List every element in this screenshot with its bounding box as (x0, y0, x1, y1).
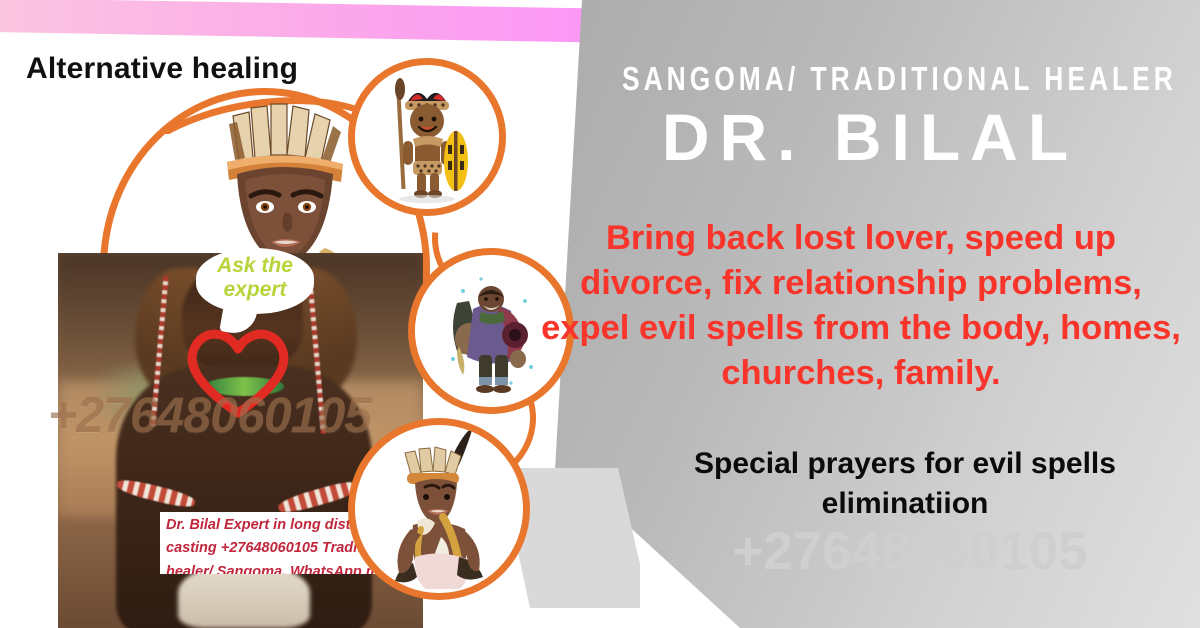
special-prayers-subheading: Special prayers for evil spells eliminat… (620, 444, 1190, 524)
healer-name-title: DR. BILAL (560, 103, 1180, 172)
ghost-phone-number: +27648060105 (620, 525, 1200, 578)
alternative-healing-headline: Alternative healing (26, 52, 298, 86)
services-description: Bring back lost lover, speed up divorce,… (536, 216, 1186, 395)
badge-crouching-dancer (348, 418, 530, 600)
badge-zulu-warrior (348, 58, 506, 216)
kicker-sangoma-traditional-healer: SANGOMA/ TRADITIONAL HEALER (622, 62, 1118, 97)
speech-bubble-text: Ask the expert (196, 254, 314, 301)
poster-canvas: Alternative healing (0, 0, 1200, 628)
pink-accent-band (0, 0, 606, 43)
